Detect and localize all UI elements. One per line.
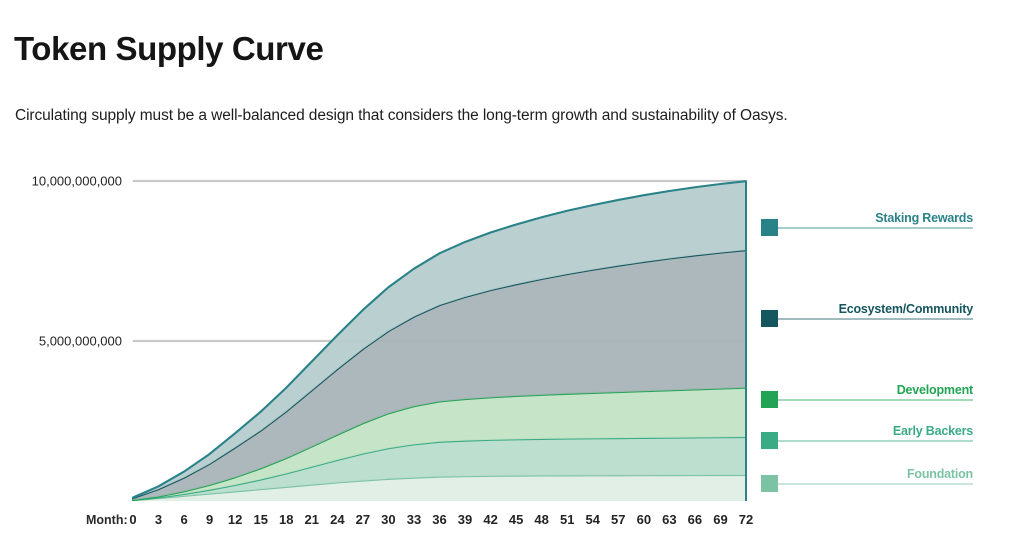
x-tick-label: 69 xyxy=(713,512,727,527)
stacked-area-chart: 10,000,000,0005,000,000,000 Month:036912… xyxy=(0,0,1024,549)
x-tick-label: 30 xyxy=(381,512,395,527)
chart-legend: Staking RewardsEcosystem/CommunityDevelo… xyxy=(761,211,974,492)
legend-swatch xyxy=(761,219,778,236)
x-tick-label: 36 xyxy=(432,512,446,527)
x-tick-label: 12 xyxy=(228,512,242,527)
chart-ytick-labels: 10,000,000,0005,000,000,000 xyxy=(32,174,122,349)
legend-swatch xyxy=(761,310,778,327)
x-tick-label: 18 xyxy=(279,512,293,527)
legend-swatch xyxy=(761,391,778,408)
legend-swatch xyxy=(761,432,778,449)
x-tick-label: 6 xyxy=(180,512,187,527)
x-tick-label: 42 xyxy=(483,512,497,527)
chart-xaxis: Month:0369121518212427303336394245485154… xyxy=(86,512,753,527)
x-tick-label: 45 xyxy=(509,512,523,527)
x-tick-label: 33 xyxy=(407,512,421,527)
x-tick-label: 21 xyxy=(305,512,319,527)
legend-label: Development xyxy=(897,383,974,397)
x-tick-label: 66 xyxy=(688,512,702,527)
y-tick-label: 10,000,000,000 xyxy=(32,174,122,189)
x-tick-label: 60 xyxy=(637,512,651,527)
legend-item[interactable]: Early Backers xyxy=(761,424,973,449)
x-tick-label: 0 xyxy=(129,512,136,527)
x-tick-label: 27 xyxy=(356,512,370,527)
x-tick-label: 39 xyxy=(458,512,472,527)
x-tick-label: 24 xyxy=(330,512,345,527)
x-tick-label: 63 xyxy=(662,512,676,527)
x-tick-label: 51 xyxy=(560,512,574,527)
x-tick-label: 48 xyxy=(534,512,548,527)
legend-item[interactable]: Staking Rewards xyxy=(761,211,973,236)
x-tick-label: 3 xyxy=(155,512,162,527)
legend-label: Early Backers xyxy=(893,424,973,438)
x-tick-label: 54 xyxy=(586,512,601,527)
x-tick-label: 15 xyxy=(253,512,267,527)
x-axis-title: Month: xyxy=(86,513,128,527)
legend-item[interactable]: Foundation xyxy=(761,467,973,492)
y-tick-label: 5,000,000,000 xyxy=(39,334,122,349)
legend-item[interactable]: Ecosystem/Community xyxy=(761,302,973,327)
legend-label: Ecosystem/Community xyxy=(839,302,974,316)
legend-label: Staking Rewards xyxy=(875,211,973,225)
x-tick-label: 72 xyxy=(739,512,753,527)
x-tick-label: 9 xyxy=(206,512,213,527)
token-supply-curve-page: Token Supply Curve Circulating supply mu… xyxy=(0,0,1024,549)
legend-label: Foundation xyxy=(907,467,973,481)
legend-item[interactable]: Development xyxy=(761,383,974,408)
x-tick-label: 57 xyxy=(611,512,625,527)
legend-swatch xyxy=(761,475,778,492)
